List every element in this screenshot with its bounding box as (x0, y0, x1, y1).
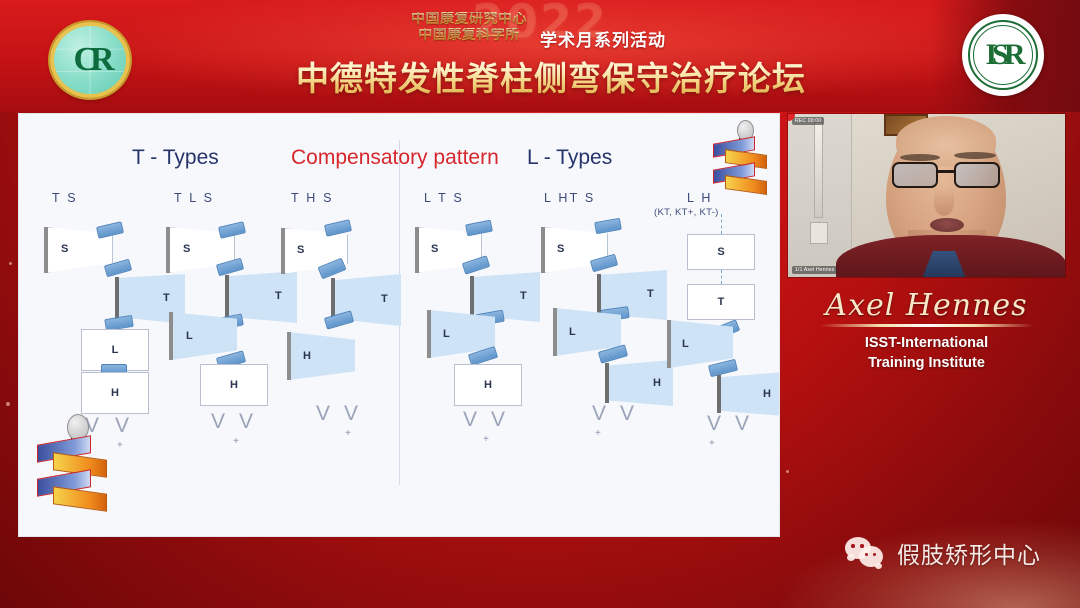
shape-label-s: S (717, 246, 724, 258)
title-t-types: T - Types (132, 146, 219, 170)
shape-t-col6: T (687, 284, 755, 320)
shape-h-col1: H (81, 372, 149, 414)
shape-label-l: L (186, 330, 193, 342)
shape-edge (470, 276, 474, 318)
shape-l-col2: L (171, 312, 237, 360)
wechat-watermark: 假肢矫形中心 (845, 536, 1041, 570)
shape-label-t: T (163, 292, 170, 304)
shape-edge (115, 277, 119, 321)
presenter-org-line-1: ISST-International (788, 334, 1065, 354)
presentation-stage: 2022 CR ISR 中国康复研究中心 中国康复科学所 学术月系列活动 中德特… (0, 0, 1080, 608)
glasses-lens-left (892, 162, 938, 188)
wechat-icon (845, 537, 887, 569)
plusmark-col4: + (483, 434, 489, 445)
presenter-mouth (930, 218, 964, 232)
pad-1-col4 (465, 220, 493, 237)
vmark-col4b: V (491, 408, 505, 432)
spark-dot (6, 402, 10, 406)
shape-label-s: S (557, 243, 564, 255)
shape-label-h: H (230, 379, 238, 391)
vmark-col5b: V (620, 402, 634, 426)
pad-1-col1 (96, 221, 124, 239)
vmark-col1b: V (115, 414, 129, 438)
figure-block-orange (725, 175, 767, 195)
presenter-org-line-2: Training Institute (788, 354, 1065, 374)
column-sublabel-lh: (KT, KT+, KT-) (654, 207, 719, 218)
vmark-col3: V (316, 402, 330, 426)
slide-content: T - Types Compensatory pattern L - Types… (18, 113, 780, 537)
shape-h-col4: H (454, 364, 522, 406)
shape-edge (717, 375, 721, 413)
shape-h-col6: H (719, 372, 780, 416)
pad-2-col6 (708, 359, 738, 377)
presenter-glasses (892, 162, 1000, 190)
presenter-organization: ISST-International Training Institute (788, 334, 1065, 373)
presenter-name-rule (820, 324, 1034, 327)
wechat-eye-dot (865, 553, 868, 556)
presenter-name: Axel Hennes (788, 288, 1065, 323)
shape-label-t: T (381, 293, 388, 305)
video-bottom-badge: 1/1 Axel Hennes (792, 266, 837, 274)
connector-lh-mid (721, 270, 722, 284)
shape-edge (415, 227, 419, 273)
shape-edge (605, 363, 609, 403)
shape-label-l: L (112, 344, 119, 356)
organizer-names: 中国康复研究中心 中国康复科学所 (396, 12, 542, 43)
connector-lh-top (721, 214, 722, 234)
shape-edge (553, 308, 557, 356)
shape-label-h: H (763, 388, 771, 400)
plusmark-col5: + (595, 428, 601, 439)
wechat-account-name: 假肢矫形中心 (897, 536, 1041, 570)
shape-label-l: L (569, 326, 576, 338)
plusmark-col3: + (345, 428, 351, 439)
wechat-bubble-tail (847, 554, 855, 561)
pad-1-col2 (218, 221, 246, 239)
vmark-col2: V (211, 410, 225, 434)
shape-label-h: H (303, 350, 311, 362)
title-compensatory-pattern: Compensatory pattern (291, 146, 499, 170)
shape-label-l: L (682, 338, 689, 350)
vmark-col2b: V (239, 410, 253, 434)
video-rec-badge: REC 00:00 (792, 117, 824, 125)
header-banner: 2022 CR ISR 中国康复研究中心 中国康复科学所 学术月系列活动 中德特… (0, 0, 1080, 112)
posture-figure-icon-top (709, 120, 771, 200)
shape-label-s: S (431, 243, 438, 255)
posture-figure-icon-bottom (33, 414, 113, 516)
shape-label-l: L (443, 328, 450, 340)
shape-label-t: T (520, 290, 527, 302)
column-label-lhts: L HT S (544, 191, 595, 205)
vmark-col3b: V (344, 402, 358, 426)
shape-label-s: S (297, 244, 304, 256)
shape-edge (169, 312, 173, 360)
organizer-line-1: 中国康复研究中心 (396, 12, 542, 28)
shape-h-col5: H (607, 360, 673, 406)
vmark-col5: V (592, 402, 606, 426)
shape-label-h: H (111, 387, 119, 399)
shape-label-t: T (647, 288, 654, 300)
pad-1-col3 (324, 219, 352, 237)
wechat-eye-dot (851, 544, 855, 548)
column-label-ts: T S (52, 191, 78, 205)
pad-3-col3 (324, 310, 354, 329)
shape-label-t: T (275, 290, 282, 302)
vmark-col6b: V (735, 412, 749, 436)
shape-label-s: S (61, 243, 68, 255)
presenter-nose (934, 188, 954, 216)
shape-edge (225, 275, 229, 319)
presenter-brow-left (900, 154, 940, 161)
wechat-bubble-tail (875, 563, 882, 569)
pad-1-col5 (594, 218, 622, 234)
spark-dot (9, 262, 12, 265)
presenter-brow-right (954, 152, 996, 159)
shape-s-col6: S (687, 234, 755, 270)
shape-h-col3: H (289, 332, 355, 380)
video-background-socket (810, 222, 828, 244)
vmark-col6: V (707, 412, 721, 436)
shape-edge (287, 332, 291, 380)
organizer-line-2: 中国康复科学所 (396, 28, 542, 44)
shape-edge (541, 227, 545, 273)
figure-block-orange (53, 486, 107, 512)
spark-dot (786, 470, 789, 473)
shape-label-t: T (718, 296, 725, 308)
plusmark-col6: + (709, 438, 715, 449)
shape-edge (667, 320, 671, 368)
shape-label-s: S (183, 243, 190, 255)
vmark-col4: V (463, 408, 477, 432)
shape-label-h: H (653, 377, 661, 389)
shape-h-col2: H (200, 364, 268, 406)
wechat-eye-dot (873, 553, 876, 556)
column-label-lts: L T S (424, 191, 464, 205)
forum-main-title: 中德特发性脊柱侧弯保守治疗论坛 (0, 52, 1080, 100)
presenter-name-plate: Axel Hennes ISST-International Training … (788, 288, 1065, 388)
shape-label-h: H (484, 379, 492, 391)
shape-edge (281, 228, 285, 274)
glasses-bridge (938, 170, 954, 173)
title-l-types: L - Types (527, 146, 612, 170)
event-series-label: 学术月系列活动 (540, 26, 666, 51)
shape-edge (44, 227, 48, 273)
plusmark-col2: + (233, 436, 239, 447)
wechat-eye-dot (860, 544, 864, 548)
presenter-video-feed[interactable]: REC 00:00 1/1 Axel Hennes (788, 114, 1065, 277)
column-label-tls: T L S (174, 191, 214, 205)
shape-edge (427, 310, 431, 358)
glasses-lens-right (954, 162, 1000, 188)
plusmark-col1: + (117, 440, 123, 451)
video-background-strip (814, 122, 823, 218)
shape-edge (166, 227, 170, 273)
column-label-ths: T H S (291, 191, 334, 205)
